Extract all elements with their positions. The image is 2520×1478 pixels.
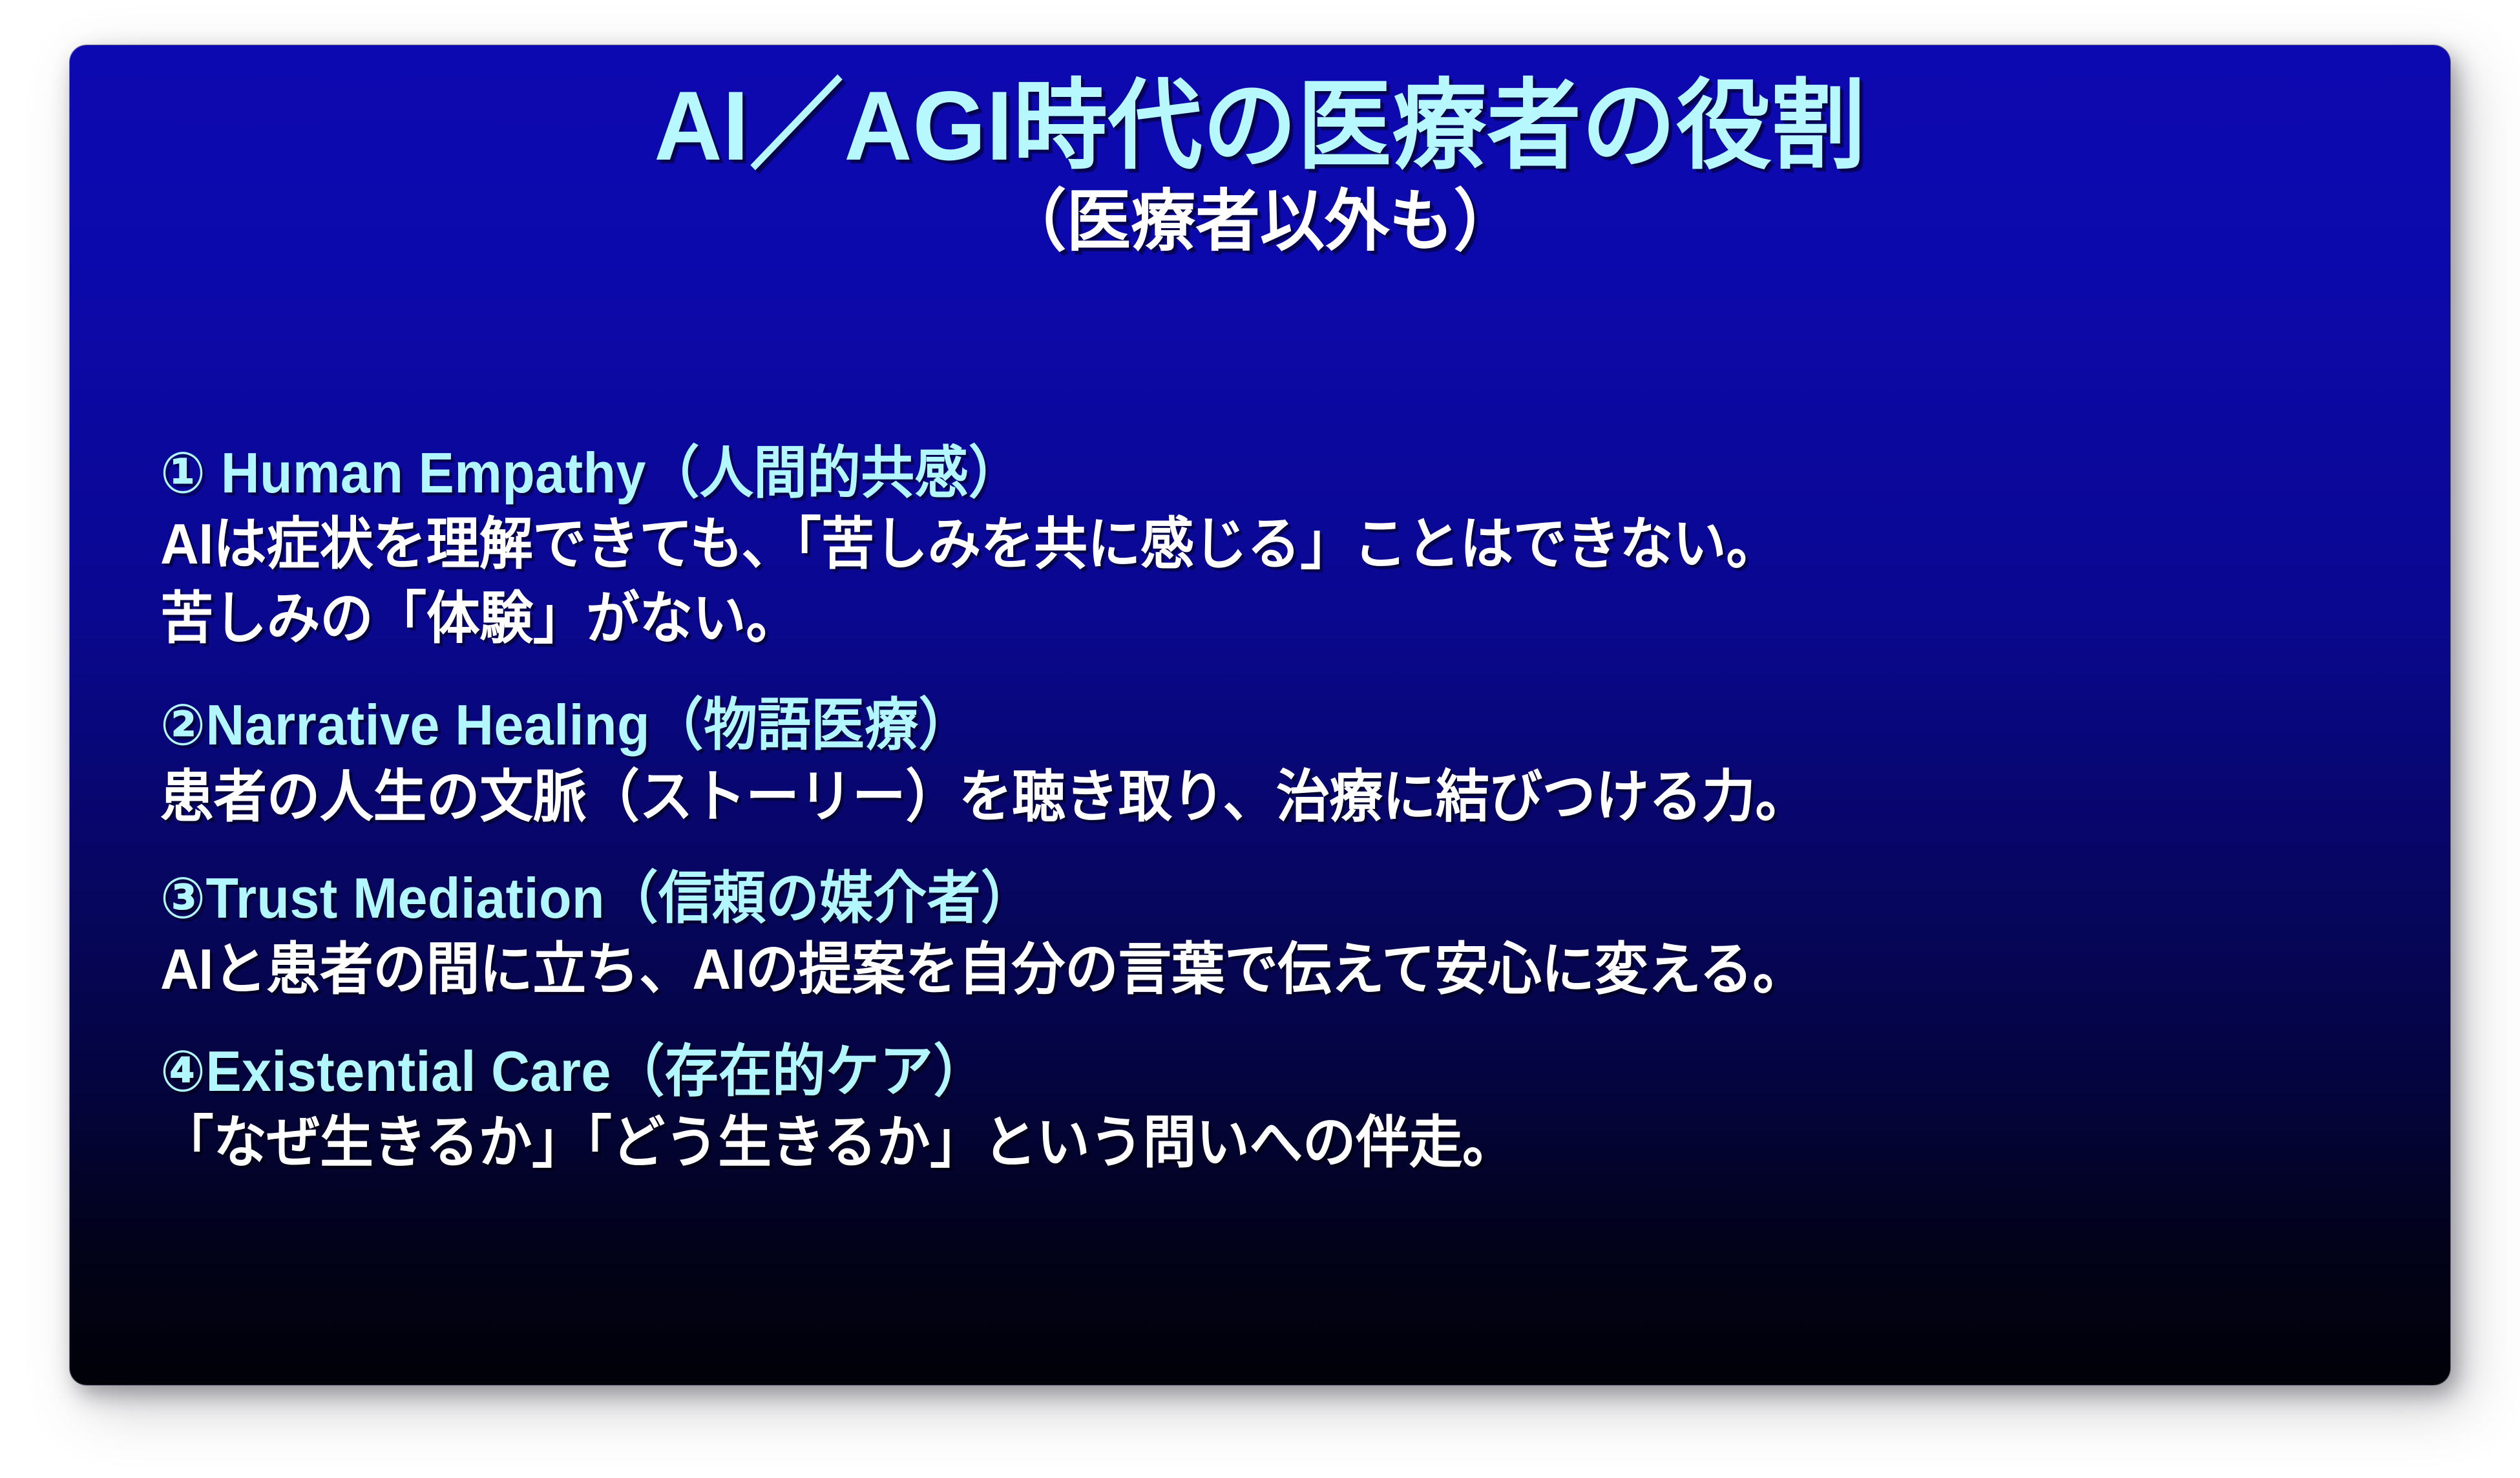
- presentation-slide: AI／AGI時代の医療者の役割 （医療者以外も） ① Human Empathy…: [70, 45, 2450, 1385]
- slide-body-list: ① Human Empathy（人間的共感） AIは症状を理解できても、「苦しみ…: [160, 438, 2424, 1209]
- page-canvas: AI／AGI時代の医療者の役割 （医療者以外も） ① Human Empathy…: [0, 0, 2520, 1478]
- list-item-text: 「なぜ生きるか」「どう生きるか」という問いへの伴走。: [160, 1106, 2289, 1179]
- list-item-text: 苦しみの「体験」がない。: [160, 582, 2289, 655]
- list-item-text: AIと患者の間に立ち、AIの提案を自分の言葉で伝えて安心に変える。: [160, 933, 2289, 1006]
- list-item-heading: ① Human Empathy（人間的共感）: [160, 438, 2289, 507]
- list-item-heading: ④Existential Care（存在的ケア）: [160, 1037, 2289, 1106]
- slide-subtitle: （医療者以外も）: [118, 176, 2403, 267]
- list-item: ③Trust Mediation（信頼の媒介者） AIと患者の間に立ち、AIの提…: [160, 863, 2424, 1007]
- slide-title: AI／AGI時代の医療者の役割: [118, 76, 2403, 176]
- list-item: ④Existential Care（存在的ケア） 「なぜ生きるか」「どう生きるか…: [160, 1037, 2424, 1180]
- list-item-text: 患者の人生の文脈（ストーリー）を聴き取り、治療に結びつける力。: [160, 760, 2289, 834]
- list-item: ① Human Empathy（人間的共感） AIは症状を理解できても、「苦しみ…: [160, 438, 2424, 655]
- list-item-heading: ②Narrative Healing（物語医療）: [160, 690, 2289, 759]
- slide-title-block: AI／AGI時代の医療者の役割 （医療者以外も）: [70, 76, 2450, 267]
- list-item: ②Narrative Healing（物語医療） 患者の人生の文脈（ストーリー）…: [160, 690, 2424, 834]
- list-item-text: AIは症状を理解できても、「苦しみを共に感じる」ことはできない。: [160, 507, 2289, 581]
- list-item-heading: ③Trust Mediation（信頼の媒介者）: [160, 863, 2289, 933]
